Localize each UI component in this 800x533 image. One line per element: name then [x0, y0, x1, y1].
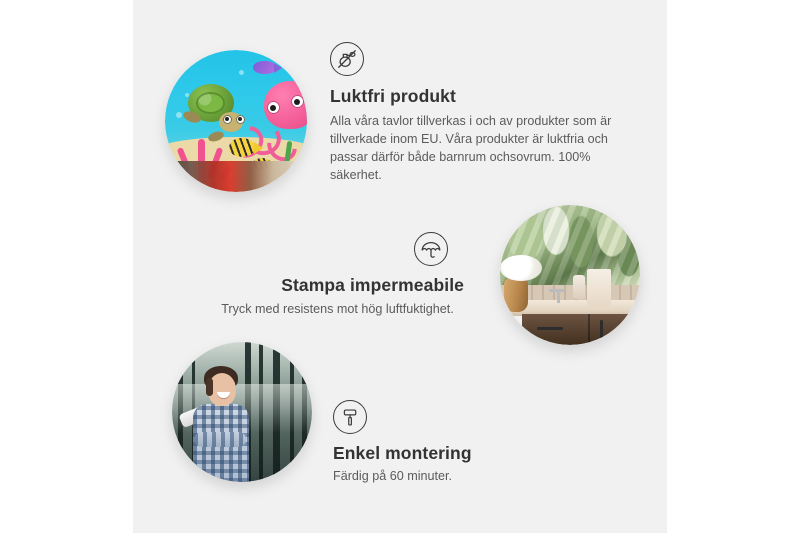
woman-arms — [194, 432, 246, 447]
wooden-cabinet — [522, 314, 640, 345]
no-odour-spray-icon — [330, 42, 364, 76]
promo-page: Luktfri produkt Alla våra tavlor tillver… — [0, 0, 800, 533]
soap-dispenser — [573, 275, 585, 299]
umbrella-icon — [414, 232, 448, 266]
feature-mounting: Enkel montering Färdig på 60 minuter. — [333, 400, 613, 486]
fish-purple — [253, 61, 275, 74]
paint-roller-icon — [333, 400, 367, 434]
woman-hair-side — [206, 378, 213, 396]
towel — [587, 269, 611, 307]
feature-title: Stampa impermeabile — [205, 275, 470, 296]
feature-odourless: Luktfri produkt Alla våra tavlor tillver… — [330, 42, 630, 185]
feature-title: Luktfri produkt — [330, 86, 630, 107]
feature-body: Färdig på 60 minuter. — [333, 468, 613, 486]
vase — [504, 278, 528, 312]
photo-bathroom-wallpaper — [500, 205, 640, 345]
photo-ocean-mural — [165, 50, 307, 192]
photo-forest-painter — [172, 342, 312, 482]
room-photo-strip — [165, 161, 307, 192]
feature-title: Enkel montering — [333, 443, 613, 464]
feature-body: Tryck med resistens mot hög luftfuktighe… — [205, 301, 470, 319]
faucet — [557, 289, 560, 303]
feature-body: Alla våra tavlor tillverkas i och av pro… — [330, 113, 620, 185]
feature-waterproof: Stampa impermeabile Tryck med resistens … — [205, 232, 470, 319]
